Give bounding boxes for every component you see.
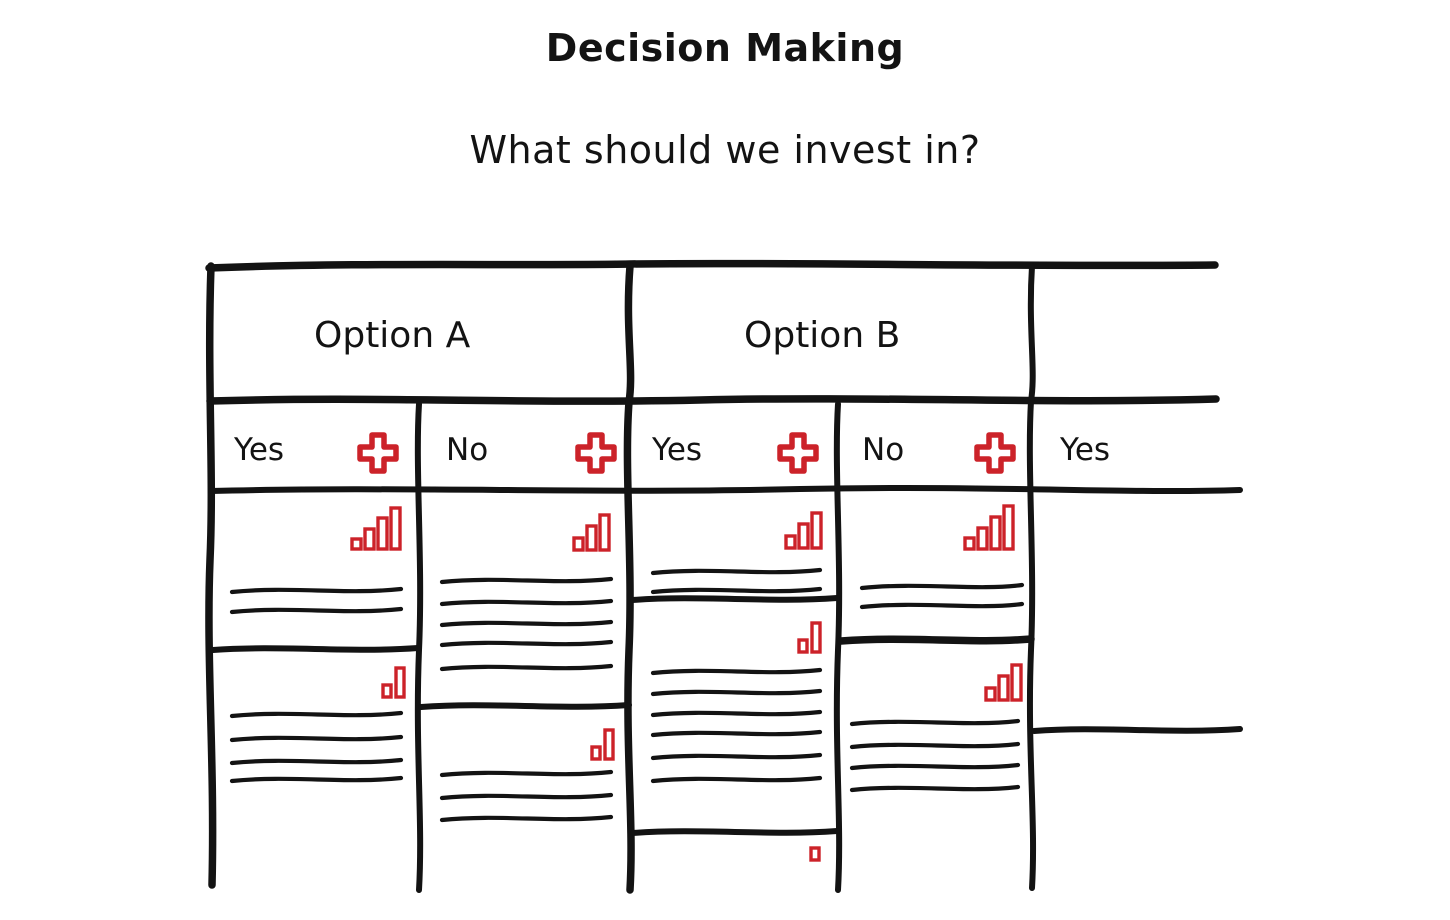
sparkline-chart-icon [809,845,823,863]
group-header-option-b: Option B [744,315,900,356]
sub-header-divider [211,488,1240,491]
placeholder-lines-a-no-1 [442,579,611,669]
row-divider-a-yes-1 [213,648,418,650]
sub-header-b-yes[interactable]: Yes [652,432,702,468]
sparkline-chart-icon [590,727,620,761]
table-top-border [209,264,1215,268]
table-left-border [209,266,213,885]
group-header-option-a: Option A [314,315,470,356]
placeholder-lines-a-no-2 [442,772,611,820]
sparkline-chart-icon [381,665,411,699]
sparkline-chart-icon [572,512,616,552]
col-divider-optionB-overflow [1030,266,1033,888]
placeholder-lines-b-no-1 [862,585,1022,607]
sub-header-overflow-yes[interactable]: Yes [1060,432,1110,468]
overflow-row-rule [1034,729,1240,731]
sparkline-chart-icon [784,510,828,550]
plus-icon[interactable] [775,430,821,476]
col-divider-b-yes-no [837,404,839,890]
placeholder-lines-b-yes-1 [653,570,820,592]
col-divider-optionA-optionB [627,266,631,890]
sub-header-a-yes[interactable]: Yes [234,432,284,468]
placeholder-lines-a-yes-2 [232,713,401,781]
row-divider-b-yes-2 [633,831,837,833]
row-divider-b-yes-1 [633,598,837,600]
sub-header-a-no[interactable]: No [446,432,488,468]
row-divider-a-no-1 [421,705,629,707]
decision-table [0,0,1450,920]
group-header-divider [210,399,1216,401]
placeholder-lines-a-yes-1 [232,589,401,612]
plus-icon[interactable] [355,430,401,476]
placeholder-lines-b-no-2 [852,721,1018,790]
sparkline-chart-icon [963,503,1019,551]
row-divider-b-no-1 [841,639,1031,641]
placeholder-lines-b-yes-2 [653,670,820,781]
sparkline-chart-icon [797,620,827,654]
plus-icon[interactable] [972,430,1018,476]
sparkline-chart-icon [350,505,406,551]
sparkline-chart-icon [984,662,1028,702]
sub-header-b-no[interactable]: No [862,432,904,468]
plus-icon[interactable] [573,430,619,476]
